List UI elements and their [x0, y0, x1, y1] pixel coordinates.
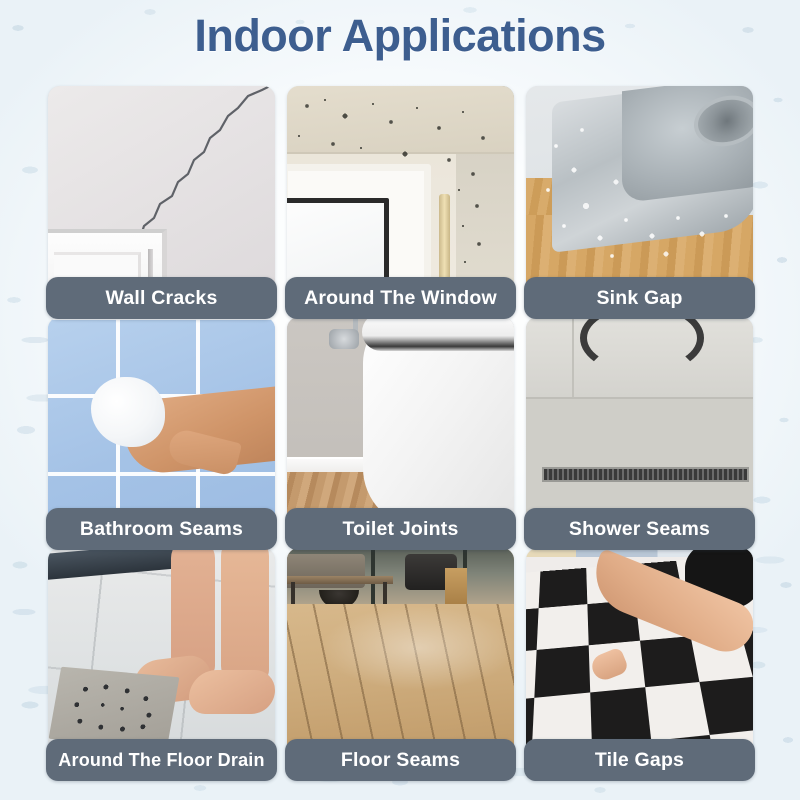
grid-cell-shower-seams[interactable]: Shower Seams [526, 317, 753, 542]
label-floor-seams[interactable]: Floor Seams [285, 739, 516, 781]
coffee-table [287, 576, 393, 584]
label-sink-gap[interactable]: Sink Gap [524, 277, 755, 319]
label-around-the-window[interactable]: Around The Window [285, 277, 516, 319]
label-tile-gaps[interactable]: Tile Gaps [524, 739, 755, 781]
label-wall-cracks[interactable]: Wall Cracks [46, 277, 277, 319]
grid-cell-wall-cracks[interactable]: Wall Cracks [48, 86, 275, 311]
pipe [439, 194, 450, 282]
grid-cell-floor-seams[interactable]: Floor Seams [287, 548, 514, 773]
label-around-the-floor-drain[interactable]: Around The Floor Drain [46, 739, 277, 781]
label-toilet-joints[interactable]: Toilet Joints [285, 508, 516, 550]
shutoff-valve-icon [329, 329, 359, 349]
grid-cell-around-the-floor-drain[interactable]: Around The Floor Drain [48, 548, 275, 773]
grid-cell-tile-gaps[interactable]: Tile Gaps [526, 548, 753, 773]
page-title: Indoor Applications [0, 10, 800, 62]
linear-drain-icon [542, 467, 749, 482]
wall-seam [572, 317, 574, 397]
grid-cell-sink-gap[interactable]: Sink Gap [526, 86, 753, 311]
drain-holes-icon [64, 678, 164, 740]
grid-cell-around-the-window[interactable]: Around The Window [287, 86, 514, 311]
label-shower-seams[interactable]: Shower Seams [524, 508, 755, 550]
application-poster: Indoor Applications Wall Cracks [0, 0, 800, 800]
toilet-seat [362, 317, 514, 351]
label-bathroom-seams[interactable]: Bathroom Seams [46, 508, 277, 550]
application-grid: Wall Cracks Around The Window [48, 86, 753, 783]
wood-stool [445, 568, 467, 606]
foot-right [189, 670, 275, 714]
grid-cell-toilet-joints[interactable]: Toilet Joints [287, 317, 514, 542]
leg-right [221, 548, 269, 684]
grid-cell-bathroom-seams[interactable]: Bathroom Seams [48, 317, 275, 542]
